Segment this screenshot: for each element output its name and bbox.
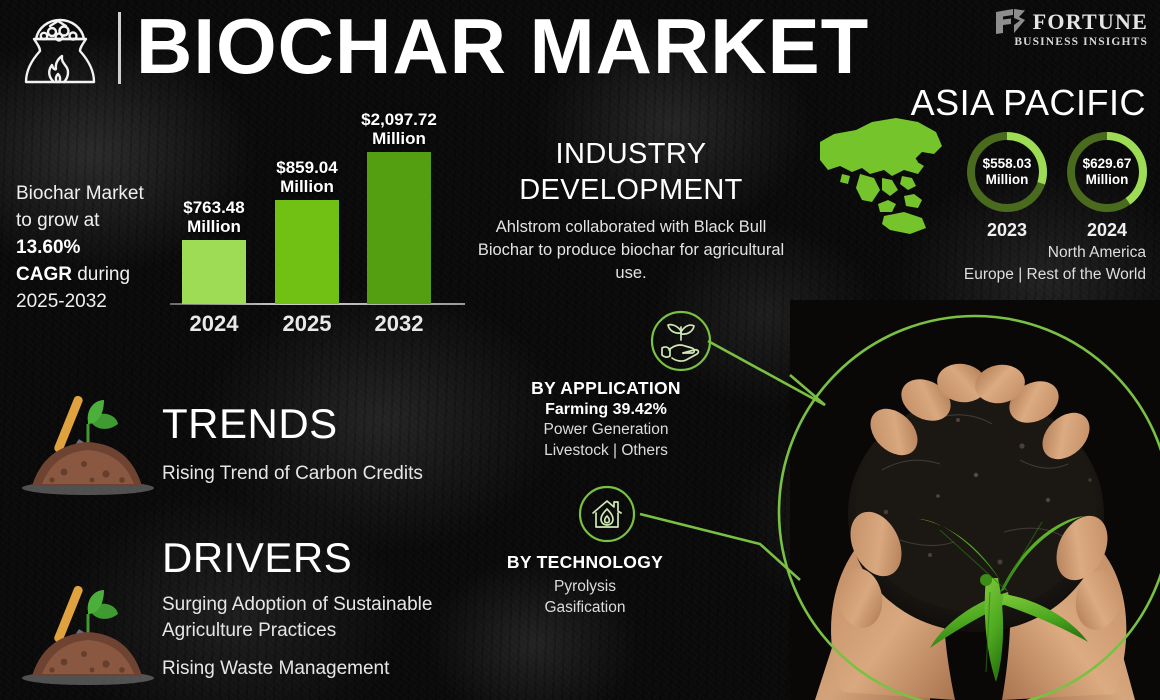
donut-label-2024: $629.67 Million <box>1063 128 1151 216</box>
by-application-icon <box>650 310 712 377</box>
bar-rect-2024 <box>182 240 246 304</box>
fb-monogram-icon <box>995 8 1026 35</box>
bar-unit-2025: Million <box>280 177 334 196</box>
donut-value-2023: $558.03 <box>983 156 1032 172</box>
drivers-heading: DRIVERS <box>162 534 352 582</box>
by-technology-item-1: Pyrolysis <box>460 576 710 597</box>
bar-column-2024: $763.48 Million 2024 <box>182 240 246 304</box>
bar-column-2025: $859.04 Million 2025 <box>275 200 339 304</box>
industry-development-body: Ahlstrom collaborated with Black Bull Bi… <box>466 216 796 285</box>
by-technology-section: BY TECHNOLOGY Pyrolysis Gasification <box>460 552 710 618</box>
donut-year-2024: 2024 <box>1063 220 1151 241</box>
trends-shovel-soil-sprout-icon <box>18 388 158 503</box>
cagr-line2: to grow at <box>16 210 99 231</box>
bar-rect-2025 <box>275 200 339 304</box>
bar-rect-2032 <box>367 152 431 304</box>
by-application-title: BY APPLICATION <box>478 378 734 399</box>
bar-amount-2024: $763.48 <box>183 198 244 217</box>
donut-label-2023: $558.03 Million <box>963 128 1051 216</box>
cagr-period: 2025-2032 <box>16 291 107 312</box>
donut-year-2023: 2023 <box>963 220 1051 241</box>
fortune-business-insights-logo: FORTUNE BUSINESS INSIGHTS <box>995 8 1148 48</box>
donut-chart-2024: $629.67 Million 2024 <box>1063 128 1151 216</box>
trends-item-0: Rising Trend of Carbon Credits <box>162 461 582 487</box>
cagr-word: CAGR <box>16 264 72 285</box>
donut-unit-2023: Million <box>986 172 1029 188</box>
bar-unit-2024: Million <box>187 217 241 236</box>
bar-column-2032: $2,097.72 Million 2032 <box>367 152 431 304</box>
industry-title-line2: DEVELOPMENT <box>519 174 743 206</box>
bar-amount-2025: $859.04 <box>276 158 337 177</box>
cagr-rate: 13.60% <box>16 237 80 258</box>
brand-subtitle: BUSINESS INSIGHTS <box>995 36 1148 48</box>
industry-title-line1: INDUSTRY <box>556 138 707 170</box>
bar-value-2032: $2,097.72 Million <box>324 110 474 148</box>
cagr-during: during <box>72 264 130 285</box>
bar-year-2032: 2032 <box>324 311 474 337</box>
by-technology-item-2: Gasification <box>460 597 710 618</box>
drivers-item-1: Rising Waste Management <box>162 656 482 682</box>
region-line-2: Europe | Rest of the World <box>964 264 1146 286</box>
trends-heading: TRENDS <box>162 400 338 448</box>
drivers-item-0: Surging Adoption of Sustainable Agricult… <box>162 592 482 644</box>
bar-value-2024: $763.48 Million <box>139 198 289 236</box>
industry-development-section: INDUSTRY DEVELOPMENT Ahlstrom collaborat… <box>466 136 796 285</box>
by-application-lead: Farming 39.42% <box>478 401 734 419</box>
hands-holding-soil-photo <box>790 300 1160 700</box>
page-title: BIOCHAR MARKET <box>136 4 869 88</box>
donut-unit-2024: Million <box>1086 172 1129 188</box>
donut-chart-2023: $558.03 Million 2023 <box>963 128 1051 216</box>
by-technology-icon <box>578 485 636 548</box>
biochar-bag-icon <box>14 10 106 93</box>
industry-development-title: INDUSTRY DEVELOPMENT <box>466 136 796 208</box>
by-technology-title: BY TECHNOLOGY <box>460 552 710 573</box>
region-line-1: North America <box>964 242 1146 264</box>
donut-value-2024: $629.67 <box>1083 156 1132 172</box>
regions-list: North America Europe | Rest of the World <box>964 242 1146 286</box>
by-application-section: BY APPLICATION Farming 39.42% Power Gene… <box>478 378 734 461</box>
cagr-line1: Biochar Market <box>16 183 144 204</box>
market-size-bar-chart: $763.48 Million 2024 $859.04 Million 202… <box>170 135 465 340</box>
title-divider <box>118 12 121 84</box>
by-application-item-2: Livestock | Others <box>478 440 734 461</box>
brand-name: FORTUNE <box>1033 11 1148 33</box>
by-application-item-1: Power Generation <box>478 419 734 440</box>
drivers-items: Surging Adoption of Sustainable Agricult… <box>162 592 482 682</box>
bar-unit-2032: Million <box>372 129 426 148</box>
bar-value-2025: $859.04 Million <box>232 158 382 196</box>
asia-pacific-map-icon <box>818 108 946 239</box>
drivers-shovel-soil-sprout-icon <box>18 578 158 693</box>
trends-items: Rising Trend of Carbon Credits <box>162 461 582 487</box>
bar-amount-2032: $2,097.72 <box>361 110 437 129</box>
